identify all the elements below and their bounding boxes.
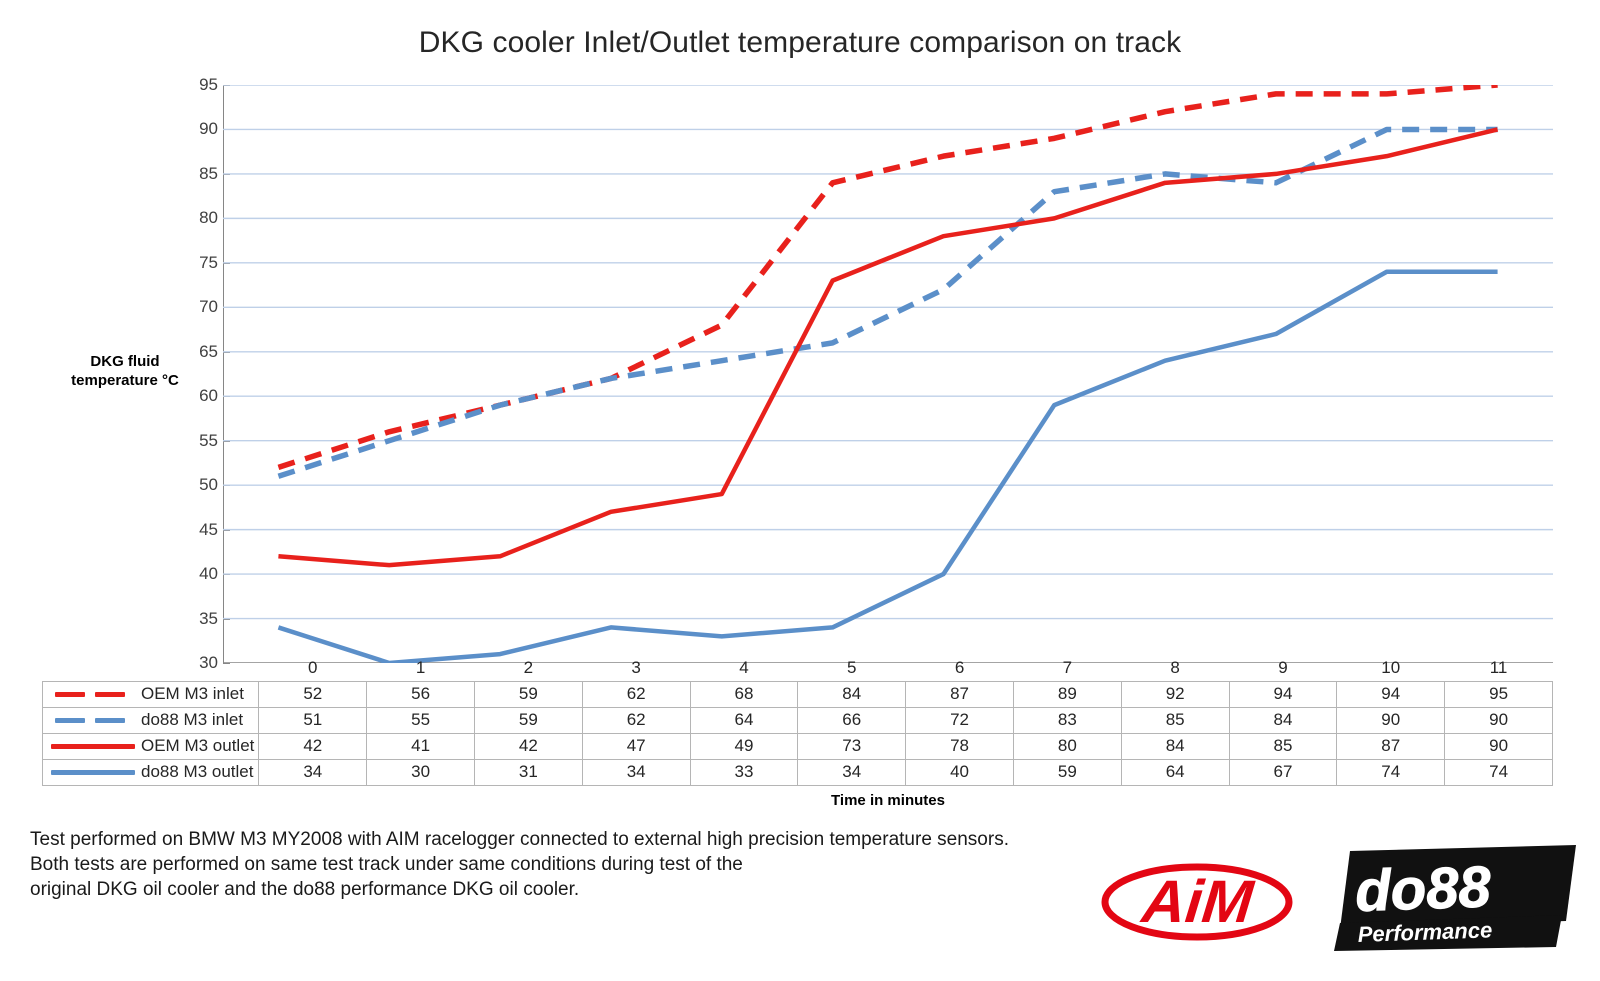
table-cell: 74 <box>1445 759 1553 785</box>
table-cell: 31 <box>474 759 582 785</box>
table-cell: 62 <box>582 681 690 707</box>
legend-label: OEM M3 inlet <box>141 684 244 704</box>
x-axis-tick-1: 1 <box>367 655 475 681</box>
legend-swatch-icon <box>51 770 135 775</box>
table-cell: 89 <box>1013 681 1121 707</box>
table-cell: 85 <box>1121 707 1229 733</box>
table-cell: 73 <box>798 733 906 759</box>
y-axis-tick-50: 50 <box>172 475 218 495</box>
table-cell: 59 <box>474 681 582 707</box>
table-cell: 42 <box>259 733 367 759</box>
table-cell: 40 <box>906 759 1014 785</box>
legend-label: OEM M3 outlet <box>141 736 254 756</box>
table-cell: 59 <box>474 707 582 733</box>
y-axis-tick-70: 70 <box>172 297 218 317</box>
footer-line-1: Test performed on BMW M3 MY2008 with AIM… <box>30 827 1009 852</box>
table-cell: 94 <box>1337 681 1445 707</box>
table-cell: 62 <box>582 707 690 733</box>
series-line-0 <box>278 85 1497 467</box>
legend-swatch-icon <box>51 744 135 749</box>
table-cell: 56 <box>367 681 475 707</box>
table-cell: 33 <box>690 759 798 785</box>
table-header-corner <box>43 655 259 681</box>
table-row: do88 M3 outlet343031343334405964677474 <box>43 759 1553 785</box>
legend-item-2: OEM M3 outlet <box>43 733 259 759</box>
table-cell: 67 <box>1229 759 1337 785</box>
y-axis-tick-35: 35 <box>172 609 218 629</box>
table-cell: 87 <box>1337 733 1445 759</box>
x-axis-tick-7: 7 <box>1013 655 1121 681</box>
table-cell: 92 <box>1121 681 1229 707</box>
x-axis-tick-4: 4 <box>690 655 798 681</box>
y-axis-tick-55: 55 <box>172 431 218 451</box>
table-cell: 59 <box>1013 759 1121 785</box>
chart-page: DKG cooler Inlet/Outlet temperature comp… <box>0 0 1600 981</box>
x-axis-title: Time in minutes <box>223 792 1553 809</box>
x-axis-tick-8: 8 <box>1121 655 1229 681</box>
aim-logo-text: AiM <box>1137 868 1258 935</box>
table-cell: 34 <box>798 759 906 785</box>
x-axis-tick-9: 9 <box>1229 655 1337 681</box>
y-axis-tick-40: 40 <box>172 564 218 584</box>
table-cell: 95 <box>1445 681 1553 707</box>
table-cell: 87 <box>906 681 1014 707</box>
table-cell: 84 <box>1121 733 1229 759</box>
x-axis-tick-11: 11 <box>1445 655 1553 681</box>
do88-logo-text: do88 <box>1354 854 1492 924</box>
legend-label: do88 M3 inlet <box>141 710 243 730</box>
table-header-row: 01234567891011 <box>43 655 1553 681</box>
legend-swatch-icon <box>51 692 135 697</box>
y-axis-tick-65: 65 <box>172 342 218 362</box>
y-axis-tick-85: 85 <box>172 164 218 184</box>
table-row: OEM M3 inlet525659626884878992949495 <box>43 681 1553 707</box>
y-axis-tick-80: 80 <box>172 208 218 228</box>
series-line-2 <box>278 129 1497 565</box>
x-axis-tick-3: 3 <box>582 655 690 681</box>
x-axis-tick-5: 5 <box>798 655 906 681</box>
table-cell: 34 <box>259 759 367 785</box>
data-table: 01234567891011OEM M3 inlet52565962688487… <box>42 655 1553 786</box>
series-line-1 <box>278 129 1497 476</box>
legend-label: do88 M3 outlet <box>141 762 253 782</box>
table-cell: 49 <box>690 733 798 759</box>
table-cell: 64 <box>690 707 798 733</box>
do88-logo: do88 Performance <box>1318 843 1578 953</box>
table-cell: 68 <box>690 681 798 707</box>
table-cell: 90 <box>1445 707 1553 733</box>
x-axis-tick-10: 10 <box>1337 655 1445 681</box>
table-cell: 42 <box>474 733 582 759</box>
table-cell: 94 <box>1229 681 1337 707</box>
table-cell: 64 <box>1121 759 1229 785</box>
table-cell: 34 <box>582 759 690 785</box>
table-cell: 80 <box>1013 733 1121 759</box>
footer-note: Test performed on BMW M3 MY2008 with AIM… <box>30 827 1009 902</box>
aim-logo: AiM <box>1100 850 1295 950</box>
footer-line-3: original DKG oil cooler and the do88 per… <box>30 877 1009 902</box>
series-canvas <box>223 85 1553 663</box>
legend-item-3: do88 M3 outlet <box>43 759 259 785</box>
x-axis-tick-0: 0 <box>259 655 367 681</box>
y-axis-tick-60: 60 <box>172 386 218 406</box>
x-axis-tick-6: 6 <box>906 655 1014 681</box>
y-axis-tick-90: 90 <box>172 119 218 139</box>
table-cell: 47 <box>582 733 690 759</box>
table-row: OEM M3 outlet424142474973788084858790 <box>43 733 1553 759</box>
table-cell: 66 <box>798 707 906 733</box>
table-cell: 90 <box>1445 733 1553 759</box>
table-cell: 41 <box>367 733 475 759</box>
legend-item-1: do88 M3 inlet <box>43 707 259 733</box>
table-cell: 85 <box>1229 733 1337 759</box>
table-cell: 72 <box>906 707 1014 733</box>
table-cell: 83 <box>1013 707 1121 733</box>
table-cell: 51 <box>259 707 367 733</box>
table-cell: 78 <box>906 733 1014 759</box>
y-axis-tick-95: 95 <box>172 75 218 95</box>
do88-logo-subtext: Performance <box>1357 917 1492 947</box>
x-axis-tick-2: 2 <box>474 655 582 681</box>
table-row: do88 M3 inlet515559626466728385849090 <box>43 707 1553 733</box>
plot-area <box>223 85 1553 663</box>
footer-line-2: Both tests are performed on same test tr… <box>30 852 1009 877</box>
y-axis-tick-45: 45 <box>172 520 218 540</box>
table-cell: 52 <box>259 681 367 707</box>
table-cell: 74 <box>1337 759 1445 785</box>
table-cell: 30 <box>367 759 475 785</box>
table-cell: 55 <box>367 707 475 733</box>
table-cell: 90 <box>1337 707 1445 733</box>
table-cell: 84 <box>798 681 906 707</box>
page-title: DKG cooler Inlet/Outlet temperature comp… <box>0 26 1600 60</box>
legend-swatch-icon <box>51 718 135 723</box>
table-cell: 84 <box>1229 707 1337 733</box>
y-axis-tick-75: 75 <box>172 253 218 273</box>
legend-item-0: OEM M3 inlet <box>43 681 259 707</box>
series-line-3 <box>278 272 1497 663</box>
